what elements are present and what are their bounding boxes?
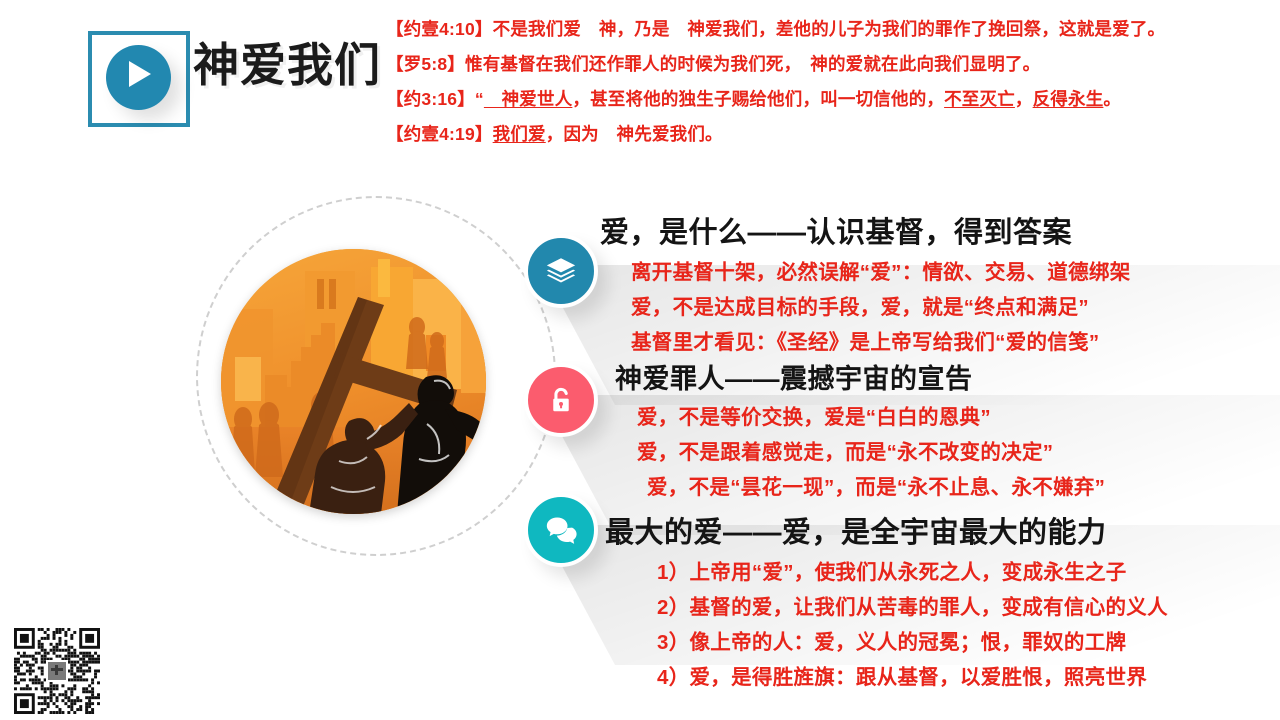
verse-text: 【约3:16】“: [386, 89, 484, 109]
section-line: 2）基督的爱，让我们从苦毒的罪人，变成有信心的义人: [657, 590, 1168, 625]
verse-text: ，甚至将他的独生子赐给他们，叫一切信他的，: [572, 89, 944, 109]
section-line: 1）上帝用“爱”，使我们从永死之人，变成永生之子: [657, 555, 1168, 590]
play-button-icon: [129, 61, 151, 87]
content-section-2: 神爱罪人——震撼宇宙的宣告 爱，不是等价交换，爱是“白白的恩典” 爱，不是跟着感…: [615, 365, 1105, 505]
qr-code[interactable]: [14, 628, 100, 714]
section-heading: 最大的爱——爱，是全宇宙最大的能力: [605, 518, 1168, 550]
section-lines: 离开基督十架，必然误解“爱”：情欲、交易、道德绑架 爱，不是达成目标的手段，爱，…: [600, 255, 1131, 360]
verse-text: 。: [1103, 89, 1121, 109]
verse-1john-4-19: 【约壹4:19】我们爱，因为 神先爱我们。: [386, 117, 1271, 152]
verse-emphasis: 反得永生: [1033, 89, 1104, 109]
section-line: 离开基督十架，必然误解“爱”：情欲、交易、道德绑架: [631, 255, 1131, 290]
section-line: 3）像上帝的人：爱，义人的冠冕；恨，罪奴的工牌: [657, 625, 1168, 660]
content-section-1: 爱，是什么——认识基督，得到答案 离开基督十架，必然误解“爱”：情欲、交易、道德…: [600, 218, 1131, 360]
verse-emphasis: 我们爱: [493, 124, 546, 144]
verse-text: 【罗5:8】惟有基督在我们还作罪人的时候为我们死， 神的爱就在此向我们显明了。: [386, 54, 1040, 74]
verse-text: 【约壹4:19】: [386, 124, 493, 144]
section-line: 4）爱，是得胜旌旗：跟从基督，以爱胜恨，照亮世界: [657, 660, 1168, 695]
layers-icon[interactable]: [524, 234, 598, 308]
christ-carrying-cross-illustration: [221, 249, 486, 514]
chat-bubbles-icon[interactable]: [524, 493, 598, 567]
section-lines: 爱，不是等价交换，爱是“白白的恩典” 爱，不是跟着感觉走，而是“永不改变的决定”…: [615, 400, 1105, 505]
unlock-icon[interactable]: [524, 363, 598, 437]
page-title: 神爱我们: [193, 42, 381, 88]
verse-emphasis: 不至灭亡: [944, 89, 1015, 109]
section-heading: 爱，是什么——认识基督，得到答案: [600, 218, 1131, 250]
verse-emphasis: 神爱世人: [484, 89, 573, 109]
verse-text: 【约壹4:10】不是我们爱 神，乃是 神爱我们，差他的儿子为我们的罪作了挽回祭，…: [386, 19, 1165, 39]
slide-canvas: 神爱我们 【约壹4:10】不是我们爱 神，乃是 神爱我们，差他的儿子为我们的罪作…: [0, 0, 1280, 720]
section-line: 爱，不是跟着感觉走，而是“永不改变的决定”: [637, 435, 1105, 470]
section-line: 爱，不是等价交换，爱是“白白的恩典”: [637, 400, 1105, 435]
content-section-3: 最大的爱——爱，是全宇宙最大的能力 1）上帝用“爱”，使我们从永死之人，变成永生…: [605, 518, 1168, 695]
section-line: 基督里才看见：《圣经》是上帝写给我们“爱的信笺”: [631, 325, 1131, 360]
verse-romans-5-8: 【罗5:8】惟有基督在我们还作罪人的时候为我们死， 神的爱就在此向我们显明了。: [386, 47, 1271, 82]
verse-john-3-16: 【约3:16】“ 神爱世人，甚至将他的独生子赐给他们，叫一切信他的，不至灭亡，反…: [386, 82, 1271, 117]
verse-text: ，因为 神先爱我们。: [546, 124, 723, 144]
section-line: 爱，不是达成目标的手段，爱，就是“终点和满足”: [631, 290, 1131, 325]
section-lines: 1）上帝用“爱”，使我们从永死之人，变成永生之子 2）基督的爱，让我们从苦毒的罪…: [605, 555, 1168, 695]
section-line: 爱，不是“昙花一现”，而是“永不止息、永不嫌弃”: [647, 470, 1105, 505]
section-heading: 神爱罪人——震撼宇宙的宣告: [615, 365, 1105, 395]
verse-text: ，: [1015, 89, 1033, 109]
scripture-block: 【约壹4:10】不是我们爱 神，乃是 神爱我们，差他的儿子为我们的罪作了挽回祭，…: [386, 12, 1271, 152]
verse-1john-4-10: 【约壹4:10】不是我们爱 神，乃是 神爱我们，差他的儿子为我们的罪作了挽回祭，…: [386, 12, 1271, 47]
